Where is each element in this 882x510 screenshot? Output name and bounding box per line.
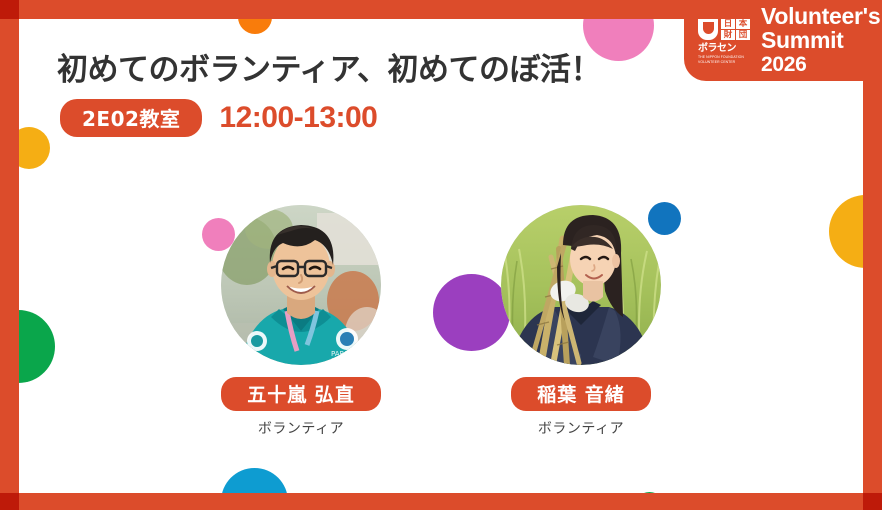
speaker-role: ボランティア: [538, 418, 624, 438]
logo-kanji-3: 財: [721, 30, 735, 40]
session-time: 12:00-13:00: [219, 101, 377, 135]
nippon-foundation-volunteer-center-logo-icon: 日 本 財 団 ボラセン THE NIPPON FOUNDATION VOLUN…: [698, 18, 754, 64]
session-title: 初めてのボランティア、初めてのぼ活！: [57, 44, 601, 89]
speaker-list: PARIS 2024: [0, 205, 882, 438]
logo-kanji-1: 日: [721, 19, 735, 29]
smile-mark-icon: [698, 19, 718, 40]
speaker-photo-female-volunteer: [501, 205, 661, 365]
frame-corner-bottom-right: [863, 493, 882, 510]
logo-kanji-4: 団: [736, 30, 750, 40]
speaker-name-badge: 稲葉 音緒: [511, 377, 651, 411]
speaker-card: 稲葉 音緒 ボランティア: [491, 205, 672, 438]
logo-sub-line-2: VOLUNTEER CENTER: [698, 60, 754, 64]
svg-text:2024: 2024: [331, 357, 349, 365]
session-slide: 日 本 財 団 ボラセン THE NIPPON FOUNDATION VOLUN…: [0, 0, 882, 510]
avatar: PARIS 2024: [221, 205, 381, 365]
frame-corner-bottom-left: [0, 493, 19, 510]
event-logo-line-2: Summit 2026: [761, 29, 882, 77]
frame-band-bottom: [0, 493, 882, 510]
speaker-role: ボランティア: [258, 418, 344, 438]
session-meta: 2E02教室 12:00-13:00: [60, 99, 377, 137]
event-logo-year: 2026: [761, 53, 807, 76]
avatar: [501, 205, 661, 365]
event-logo-summit-word: Summit: [761, 27, 844, 53]
event-title-logo: Volunteer's Summit 2026: [761, 5, 882, 77]
speaker-photo-male-volunteer: PARIS 2024: [221, 205, 381, 365]
speaker-name-badge: 五十嵐 弘直: [221, 377, 381, 411]
event-logo-line-1: Volunteer's: [761, 5, 882, 29]
room-badge: 2E02教室: [60, 99, 202, 137]
frame-corner-top-left: [0, 0, 19, 19]
event-logo-panel: 日 本 財 団 ボラセン THE NIPPON FOUNDATION VOLUN…: [684, 0, 882, 81]
speaker-card: PARIS 2024: [211, 205, 392, 438]
logo-sub-line-1: THE NIPPON FOUNDATION: [698, 55, 754, 59]
logo-kanji-2: 本: [736, 19, 750, 29]
logo-katakana: ボラセン: [698, 44, 754, 54]
